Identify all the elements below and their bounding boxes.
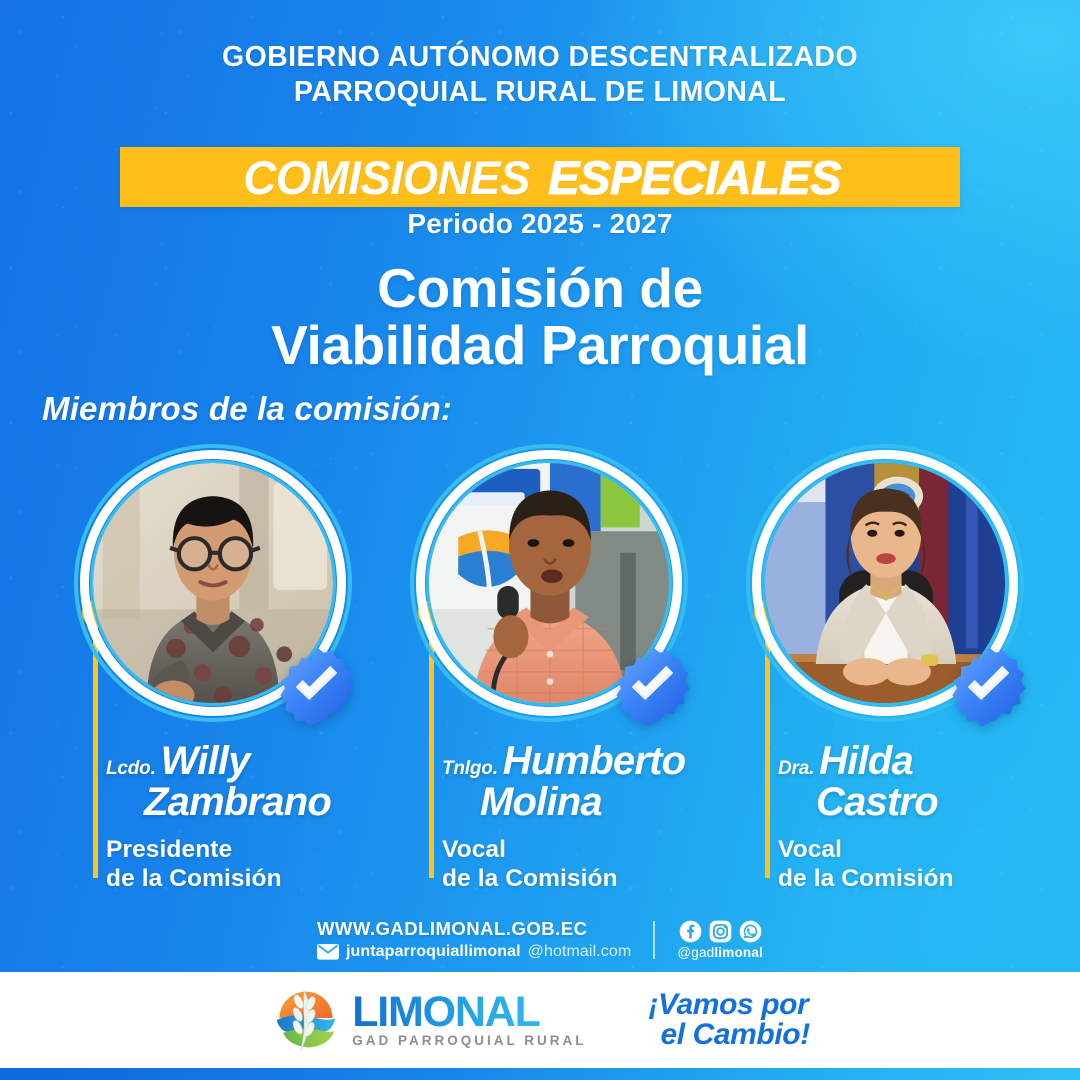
handle-name: limonal bbox=[714, 945, 763, 960]
member-role-line-2: de la Comisión bbox=[778, 865, 1078, 894]
members-label: Miembros de la comisión: bbox=[42, 390, 452, 428]
footer-bar: LIMONAL GAD PARROQUIAL RURAL ¡Vamos por … bbox=[0, 972, 1080, 1068]
member-role-line-1: Vocal bbox=[442, 836, 742, 865]
members-grid: Lcdo.Willy Zambrano Presidente de la Com… bbox=[0, 440, 1080, 900]
member-card: Lcdo.Willy Zambrano Presidente de la Com… bbox=[62, 440, 402, 900]
email-row[interactable]: juntaparroquiallimonal@hotmail.com bbox=[317, 943, 631, 961]
limonal-subtitle: GAD PARROQUIAL RURAL bbox=[352, 1034, 586, 1048]
limonal-logo-text: LIMONAL GAD PARROQUIAL RURAL bbox=[352, 993, 586, 1047]
member-role-line-2: de la Comisión bbox=[106, 865, 406, 894]
whatsapp-icon[interactable] bbox=[739, 920, 762, 943]
instagram-icon[interactable] bbox=[709, 920, 732, 943]
contact-bar: WWW.GADLIMONAL.GOB.EC juntaparroquiallim… bbox=[0, 918, 1080, 961]
poster-canvas: GOBIERNO AUTÓNOMO DESCENTRALIZADO PARROQ… bbox=[0, 0, 1080, 1080]
period-label: Periodo 2025 - 2027 bbox=[0, 208, 1080, 240]
member-last-name: Zambrano bbox=[144, 783, 406, 821]
bottom-accent-strip bbox=[0, 1068, 1080, 1080]
member-last-name: Molina bbox=[480, 783, 742, 821]
banner-word-especiales: ESPECIALES bbox=[548, 154, 841, 201]
member-first-name: Hilda bbox=[819, 739, 913, 783]
member-role: Vocal de la Comisión bbox=[442, 836, 742, 894]
member-role-line-2: de la Comisión bbox=[442, 865, 742, 894]
member-name-block: Dra.Hilda Castro Vocal de la Comisión bbox=[778, 742, 1078, 894]
member-role-line-1: Presidente bbox=[106, 836, 406, 865]
email-user: juntaparroquiallimonal bbox=[346, 943, 521, 961]
organization-title: GOBIERNO AUTÓNOMO DESCENTRALIZADO PARROQ… bbox=[0, 40, 1080, 110]
org-title-line-1: GOBIERNO AUTÓNOMO DESCENTRALIZADO bbox=[0, 40, 1080, 75]
member-avatar bbox=[74, 444, 352, 722]
limonal-logo: LIMONAL GAD PARROQUIAL RURAL bbox=[270, 987, 586, 1053]
banner-word-comisiones: COMISIONES bbox=[243, 154, 529, 201]
member-title-prefix: Dra. bbox=[778, 758, 814, 779]
commission-title-line-1: Comisión de bbox=[0, 260, 1080, 317]
member-first-name: Willy bbox=[161, 739, 250, 783]
commission-title-line-2: Viabilidad Parroquial bbox=[0, 317, 1080, 374]
contact-right-group: @gadlimonal bbox=[677, 920, 763, 960]
member-avatar bbox=[746, 444, 1024, 722]
contact-left-group: WWW.GADLIMONAL.GOB.EC juntaparroquiallim… bbox=[317, 918, 631, 961]
commissions-banner: COMISIONES ESPECIALES bbox=[120, 147, 960, 207]
org-title-line-2: PARROQUIAL RURAL DE LIMONAL bbox=[0, 75, 1080, 110]
member-name-block: Tnlgo.Humberto Molina Vocal de la Comisi… bbox=[442, 742, 742, 894]
member-first-name: Humberto bbox=[503, 739, 686, 783]
member-name: Lcdo.Willy Zambrano bbox=[106, 742, 406, 822]
member-last-name: Castro bbox=[816, 783, 1078, 821]
slogan-line-2: el Cambio! bbox=[660, 1020, 809, 1050]
slogan: ¡Vamos por el Cambio! bbox=[648, 990, 809, 1050]
verified-badge-icon bbox=[276, 644, 358, 726]
member-title-prefix: Lcdo. bbox=[106, 758, 156, 779]
member-name-block: Lcdo.Willy Zambrano Presidente de la Com… bbox=[106, 742, 406, 894]
social-handle: @gadlimonal bbox=[677, 945, 763, 960]
website-link[interactable]: WWW.GADLIMONAL.GOB.EC bbox=[317, 918, 631, 940]
social-icons-group bbox=[677, 920, 763, 943]
member-role: Presidente de la Comisión bbox=[106, 836, 406, 894]
member-name: Dra.Hilda Castro bbox=[778, 742, 1078, 822]
verified-badge-icon bbox=[948, 644, 1030, 726]
contact-divider bbox=[653, 921, 655, 959]
limonal-wordmark: LIMONAL bbox=[352, 993, 586, 1033]
email-domain: @hotmail.com bbox=[528, 943, 632, 961]
handle-at: @gad bbox=[677, 945, 714, 960]
member-role-line-1: Vocal bbox=[778, 836, 1078, 865]
envelope-icon bbox=[317, 944, 339, 960]
member-role: Vocal de la Comisión bbox=[778, 836, 1078, 894]
facebook-icon[interactable] bbox=[679, 920, 702, 943]
member-avatar bbox=[410, 444, 688, 722]
member-title-prefix: Tnlgo. bbox=[442, 758, 498, 779]
member-card: Dra.Hilda Castro Vocal de la Comisión bbox=[734, 440, 1074, 900]
limonal-sun-hill-wheat-emblem-icon bbox=[270, 987, 342, 1053]
member-name: Tnlgo.Humberto Molina bbox=[442, 742, 742, 822]
member-card: Tnlgo.Humberto Molina Vocal de la Comisi… bbox=[398, 440, 738, 900]
commission-title: Comisión de Viabilidad Parroquial bbox=[0, 260, 1080, 373]
slogan-line-1: ¡Vamos por bbox=[648, 990, 809, 1020]
verified-badge-icon bbox=[612, 644, 694, 726]
